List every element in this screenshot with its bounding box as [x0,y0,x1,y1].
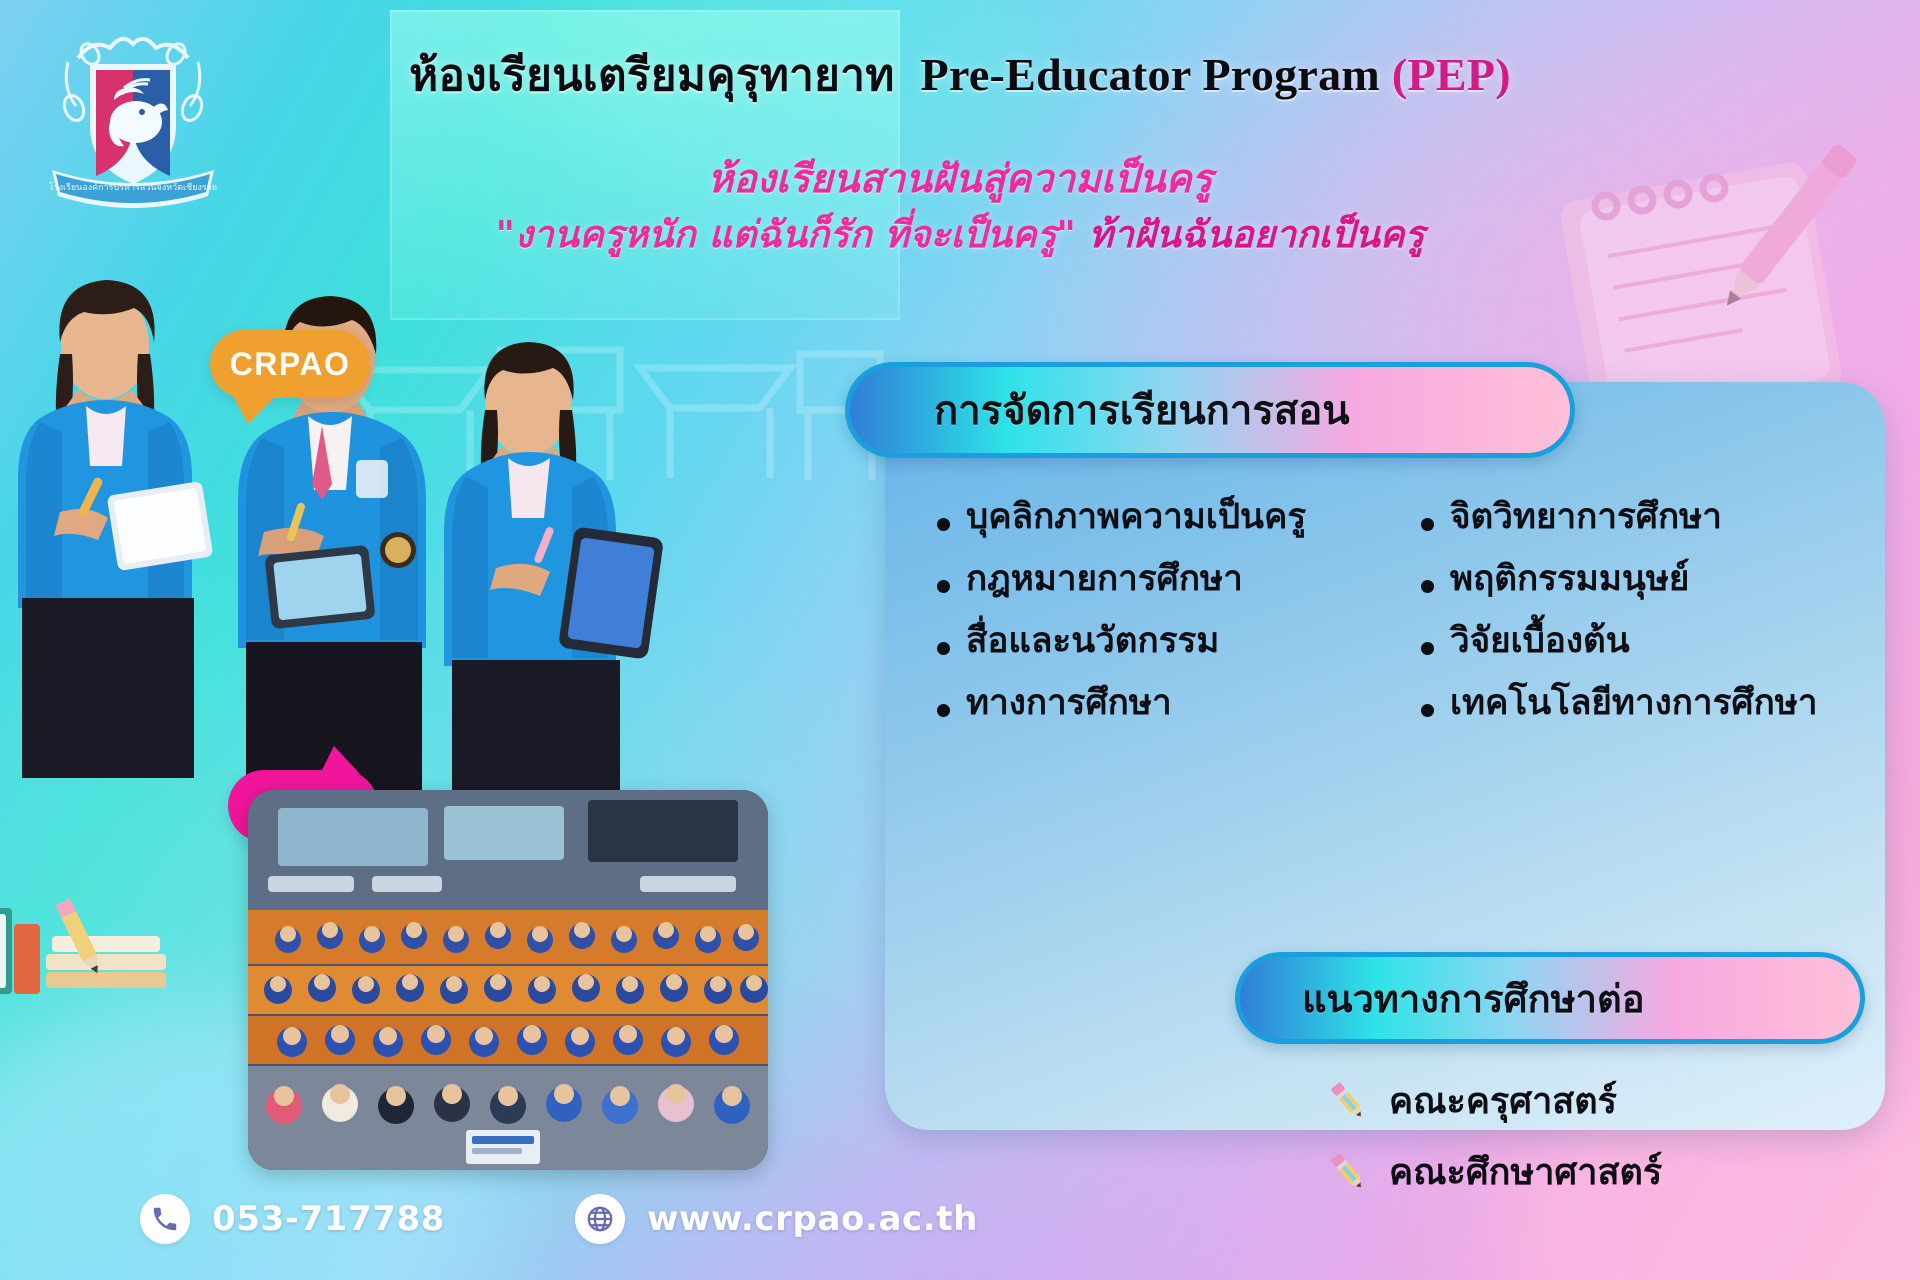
list-item: พฤติกรรมมนุษย์ [1421,562,1885,597]
students-photo [0,250,720,810]
pathway-label: คณะศึกษาศาสตร์ [1389,1143,1662,1200]
list-item: บุคลิกภาพความเป็นครู [937,500,1401,535]
subject-label: สื่อและนวัตกรรม [966,624,1219,659]
footer-contact: 053-717788 www.crpao.ac.th [140,1194,978,1244]
pathway-label: คณะครุศาสตร์ [1389,1072,1617,1129]
subject-label: พฤติกรรมมนุษย์ [1450,562,1689,597]
list-item: สื่อและนวัตกรรม [937,624,1401,659]
bullet-dot-icon [937,580,950,593]
bullet-dot-icon [1421,518,1434,531]
list-item: วิจัยเบื้องต้น [1421,624,1885,659]
pathway-list: คณะครุศาสตร์ [1325,1072,1865,1214]
subject-label: วิจัยเบื้องต้น [1450,624,1630,659]
subjects-list-right: จิตวิทยาการศึกษา พฤติกรรมมนุษย์ วิจัยเบื… [1421,500,1885,721]
badge-crpao-label: CRPAO [230,346,351,383]
subtitle-accent: ท้าฝันฉันอยากเป็นครู [1089,213,1425,256]
subjects-column-left: บุคลิกภาพความเป็นครู กฎหมายการศึกษา สื่อ… [885,500,1401,800]
subjects-column-right: จิตวิทยาการศึกษา พฤติกรรมมนุษย์ วิจัยเบื… [1401,500,1885,800]
subjects-list-left: บุคลิกภาพความเป็นครู กฎหมายการศึกษา สื่อ… [937,500,1401,721]
pathway-heading-pill: แนวทางการศึกษาต่อ [1235,952,1865,1044]
books-illustration [0,880,220,1020]
group-photo [248,790,768,1170]
list-item: ทางการศึกษา [937,686,1401,721]
list-item: คณะศึกษาศาสตร์ [1325,1143,1865,1200]
phone-number: 053-717788 [212,1199,445,1239]
subtitle-line-1: ห้องเรียนสานฝันสู่ความเป็นครู [0,148,1920,210]
pathway-heading-label: แนวทางการศึกษาต่อ [1240,968,1645,1029]
list-item: จิตวิทยาการศึกษา [1421,500,1885,535]
bullet-dot-icon [1421,642,1434,655]
footer-website: www.crpao.ac.th [575,1194,978,1244]
bullet-dot-icon [937,518,950,531]
teaching-heading-label: การจัดการเรียนการสอน [850,378,1350,442]
globe-icon [575,1194,625,1244]
poster-root: โรงเรียนองค์การบริหารส่วนจังหวัดเชียงราย… [0,0,1920,1280]
subject-label: จิตวิทยาการศึกษา [1450,500,1722,535]
bullet-dot-icon [1421,704,1434,717]
subject-label: บุคลิกภาพความเป็นครู [966,500,1306,535]
pencil-icon [1325,1149,1371,1195]
list-item: เทคโนโลยีทางการศึกษา [1421,686,1885,721]
list-item: กฎหมายการศึกษา [937,562,1401,597]
bullet-dot-icon [937,704,950,717]
badge-pep-tail [320,746,360,774]
page-title: ห้องเรียนเตรียมคุรุทายาทPre-Educator Pro… [0,40,1920,110]
info-card: การจัดการเรียนการสอน บุคลิกภาพความเป็นคร… [885,382,1885,1130]
subject-label: กฎหมายการศึกษา [966,562,1243,597]
page-title-thai: ห้องเรียนเตรียมคุรุทายาท [409,50,894,101]
page-title-abbreviation: (PEP) [1392,49,1511,100]
subject-label: เทคโนโลยีทางการศึกษา [1450,686,1818,721]
phone-icon [140,1194,190,1244]
subject-label: ทางการศึกษา [966,686,1172,721]
pencil-icon [1325,1078,1371,1124]
bullet-dot-icon [937,642,950,655]
bullet-dot-icon [1421,580,1434,593]
subjects-columns: บุคลิกภาพความเป็นครู กฎหมายการศึกษา สื่อ… [885,500,1885,800]
footer-phone: 053-717788 [140,1194,445,1244]
teaching-heading-pill: การจัดการเรียนการสอน [845,362,1575,458]
badge-crpao-tail [232,394,278,424]
list-item: คณะครุศาสตร์ [1325,1072,1865,1129]
page-title-english: Pre-Educator Program [921,49,1381,100]
website-url: www.crpao.ac.th [647,1199,978,1239]
badge-crpao: CRPAO [210,330,370,398]
